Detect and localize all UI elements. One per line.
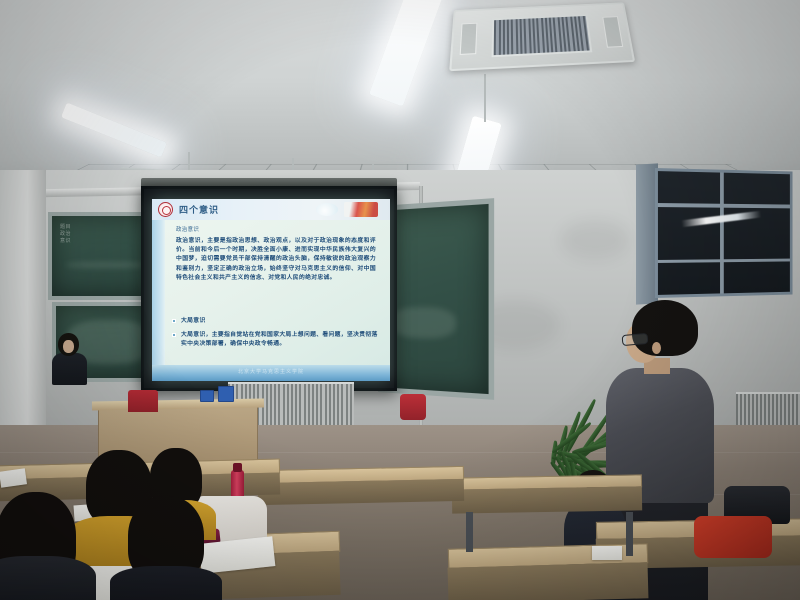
slide-bullet-list: 大局意识 大局意识，主要指自觉站在党和国家大局上想问题、看问题，坚决贯彻落实中央…	[172, 317, 378, 354]
chalkboard-text: 题目 政治 意识	[60, 224, 71, 245]
list-item: 大局意识，主要指自觉站在党和国家大局上想问题、看问题，坚决贯彻落实中央决策部署，…	[172, 331, 378, 349]
desk-panel	[258, 479, 464, 505]
bullet-text: 大局意识，主要指自觉站在党和国家大局上想问题、看问题，坚决贯彻落实中央决策部署，…	[181, 331, 378, 349]
slide-left-band	[152, 219, 165, 367]
desk-leg	[626, 512, 633, 556]
classroom-photo: 题目 政治 意识 四个意识 政治意识 政治意识，主要是指政治思想、政治观点，以及…	[0, 0, 800, 600]
slide-body: 政治意识 政治意识，主要是指政治思想、政治观点，以及对于政治现象的态度和评价。当…	[176, 225, 376, 283]
bullet-text: 大局意识	[181, 317, 206, 326]
student-shoulders	[110, 566, 222, 600]
cloud-watermark-icon	[316, 203, 338, 216]
paper-sheet	[592, 546, 622, 560]
projection-screen: 四个意识 政治意识 政治意识，主要是指政治思想、政治观点，以及对于政治现象的态度…	[141, 186, 397, 391]
slide-title: 四个意识	[179, 203, 219, 216]
student-shoulders	[0, 556, 96, 600]
bullet-square-icon	[172, 333, 176, 337]
bottle-cap	[233, 463, 242, 472]
slide-footer: 北京大学马克思主义学院	[152, 365, 390, 381]
red-chair	[128, 390, 158, 412]
desk-panel	[452, 486, 642, 513]
blue-box-1	[200, 390, 214, 402]
slide-section-heading: 政治意识	[176, 225, 376, 233]
university-seal-icon	[158, 202, 173, 217]
light-rod-4	[484, 74, 486, 122]
slide-footer-mark: 北京大学马克思主义学院	[238, 368, 304, 375]
red-coat	[694, 516, 772, 558]
list-item: 大局意识	[172, 317, 378, 326]
slide-paragraph: 政治意识，主要是指政治思想、政治观点，以及对于政治现象的态度和评价。当前和今后一…	[176, 237, 376, 283]
red-ribbon-logo-icon	[344, 202, 378, 217]
glasses-icon	[622, 333, 649, 346]
window	[655, 168, 793, 298]
blue-box-2	[218, 386, 234, 402]
presentation-slide: 四个意识 政治意识 政治意识，主要是指政治思想、政治观点，以及对于政治现象的态度…	[152, 199, 390, 381]
ceiling-ac-unit	[449, 2, 635, 71]
wall-pillar	[0, 170, 46, 430]
desk-panel	[448, 562, 649, 600]
ac-louvers	[492, 14, 592, 57]
red-chair	[400, 394, 426, 420]
desk-leg	[466, 512, 473, 552]
bullet-square-icon	[172, 319, 176, 323]
